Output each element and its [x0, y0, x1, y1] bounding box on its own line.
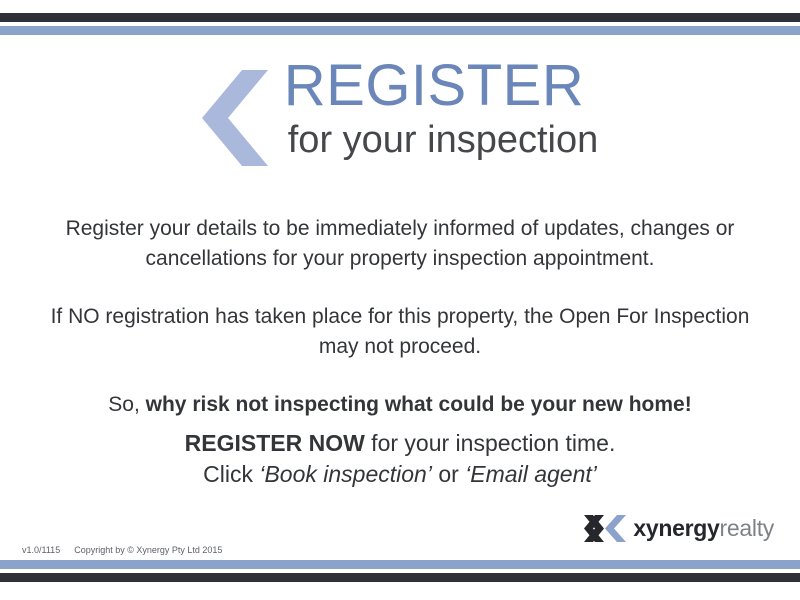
paragraph-why-risk: So, why risk not inspecting what could b…	[40, 390, 760, 420]
top-dark-rule	[0, 13, 800, 22]
top-blue-rule	[0, 26, 800, 35]
title-text-block: REGISTER for your inspection	[284, 56, 599, 162]
brand-name-primary: xynergy	[633, 515, 719, 541]
brand-name-secondary: realty	[720, 515, 774, 541]
title-lockup: REGISTER for your inspection	[0, 56, 800, 176]
cta-book-inspection-option[interactable]: ‘Book inspection’	[259, 461, 432, 487]
bottom-dark-rule	[0, 573, 800, 582]
xynergy-x-logo-icon	[584, 515, 626, 542]
registration-notice-page: REGISTER for your inspection Register yo…	[0, 0, 800, 600]
chevron-left-icon	[202, 70, 268, 166]
cta-options-join: or	[432, 461, 465, 487]
cta-register-now-emphasis: REGISTER NOW	[185, 430, 365, 456]
brand-logo: xynergyrealty	[584, 515, 774, 542]
cta-register-now-line: REGISTER NOW for your inspection time.	[40, 428, 760, 459]
call-to-action: REGISTER NOW for your inspection time. C…	[40, 428, 760, 490]
cta-register-now-rest: for your inspection time.	[365, 430, 616, 456]
version-label: v1.0/1115	[22, 544, 60, 556]
paragraph-updates: Register your details to be immediately …	[40, 214, 760, 274]
body-copy: Register your details to be immediately …	[40, 214, 760, 420]
page-title: REGISTER	[284, 56, 585, 116]
page-subtitle: for your inspection	[288, 118, 599, 162]
cta-click-lead: Click	[203, 461, 259, 487]
bottom-blue-rule	[0, 560, 800, 569]
footer-meta: v1.0/1115 Copyright by © Xynergy Pty Ltd…	[22, 544, 222, 556]
copyright-label: Copyright by © Xynergy Pty Ltd 2015	[74, 544, 222, 556]
brand-wordmark: xynergyrealty	[633, 517, 774, 540]
paragraph-no-registration: If NO registration has taken place for t…	[40, 302, 760, 362]
why-risk-lead: So,	[108, 393, 145, 416]
why-risk-emphasis: why risk not inspecting what could be yo…	[146, 393, 692, 416]
cta-click-line: Click ‘Book inspection’ or ‘Email agent’	[40, 459, 760, 490]
cta-email-agent-option[interactable]: ‘Email agent’	[465, 461, 597, 487]
